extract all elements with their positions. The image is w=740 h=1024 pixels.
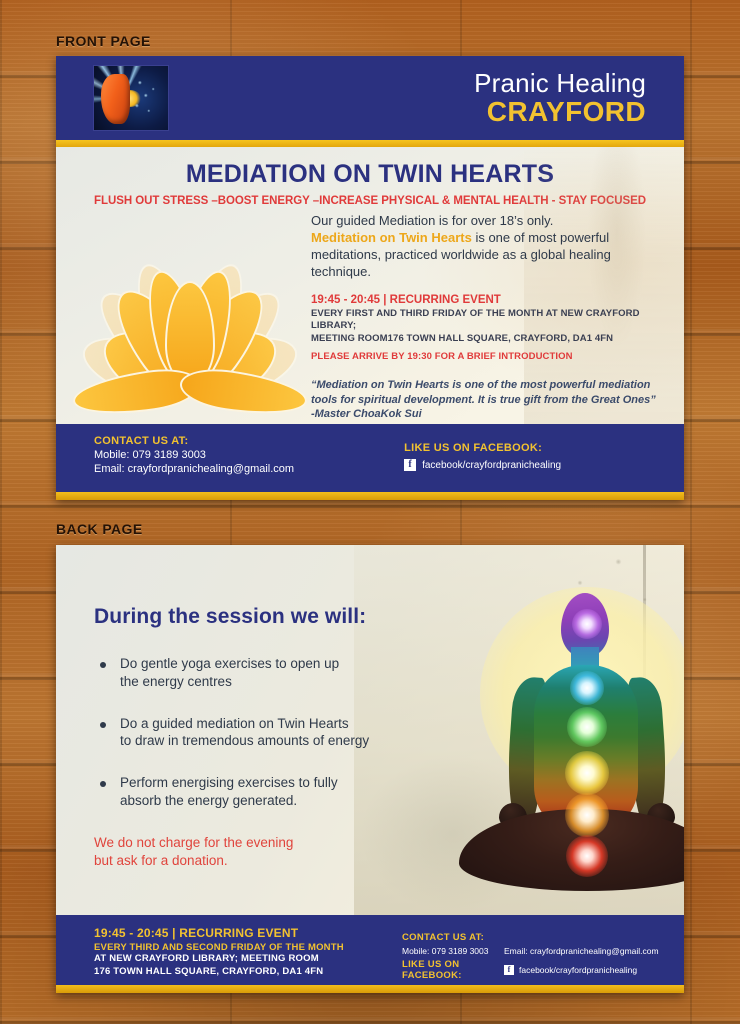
front-facebook-handle: facebook/crayfordpranichealing: [422, 460, 561, 471]
front-bottom-gold-bar: [56, 492, 684, 500]
session-bullet-list: Do gentle yoga exercises to open up the …: [100, 655, 430, 810]
back-event-time: 19:45 - 20:45 | RECURRING EVENT: [94, 926, 394, 940]
intro-line-4: technique.: [311, 264, 371, 279]
meditating-chakra-figure-icon: [451, 585, 684, 903]
back-contact-email[interactable]: Email: crayfordpranichealing@gmail.com: [504, 946, 659, 956]
front-arrive-notice: PLEASE ARRIVE BY 19:30 FOR A BRIEF INTRO…: [311, 351, 670, 362]
intro-line-3: meditations, practiced worldwide as a gl…: [311, 247, 611, 262]
brand-block: Pranic Healing CRAYFORD: [474, 70, 646, 126]
front-contact-mobile[interactable]: Mobile: 079 3189 3003: [94, 449, 294, 461]
back-contact-block: CONTACT US AT: Mobile: 079 3189 3003 Ema…: [402, 926, 659, 985]
brand-name: Pranic Healing: [474, 70, 646, 97]
chakra-solar-plexus-icon: [565, 751, 609, 795]
back-contact-heading: CONTACT US AT:: [402, 932, 659, 943]
lotus-flower-icon: [70, 229, 310, 399]
bullet-dot-icon: [100, 722, 106, 728]
back-facebook-heading: LIKE US ON FACEBOOK:: [402, 959, 504, 981]
intro-line-2-rest: is one of most powerful: [472, 230, 609, 245]
list-item: Do a guided mediation on Twin Hearts to …: [100, 715, 430, 751]
front-event-location: EVERY FIRST AND THIRD FRIDAY OF THE MONT…: [311, 308, 670, 346]
front-facebook-block: LIKE US ON FACEBOOK: f facebook/crayford…: [404, 435, 561, 492]
back-event-venue-line-2: 176 TOWN HALL SQUARE, CRAYFORD, DA1 4FN: [94, 966, 394, 979]
facebook-icon: f: [404, 459, 416, 471]
front-footer: CONTACT US AT: Mobile: 079 3189 3003 Ema…: [56, 424, 684, 492]
chakra-crown-icon: [572, 609, 602, 639]
front-header-bar: Pranic Healing CRAYFORD: [56, 56, 684, 140]
back-bottom-gold-bar: [56, 985, 684, 993]
front-contact-email[interactable]: Email: crayfordpranichealing@gmail.com: [94, 463, 294, 475]
intro-highlight: Meditation on Twin Hearts: [311, 230, 472, 245]
front-contact-block: CONTACT US AT: Mobile: 079 3189 3003 Ema…: [94, 435, 294, 492]
front-intro-paragraph: Our guided Mediation is for over 18’s on…: [311, 213, 670, 281]
bullet-dot-icon: [100, 781, 106, 787]
chakra-sacral-icon: [565, 793, 609, 837]
chakra-root-icon: [566, 835, 608, 877]
back-body: During the session we will: Do gentle yo…: [56, 545, 684, 915]
list-item: Do gentle yoga exercises to open up the …: [100, 655, 430, 691]
front-facebook-heading: LIKE US ON FACEBOOK:: [404, 442, 561, 454]
back-page-flyer: During the session we will: Do gentle yo…: [56, 545, 684, 993]
back-event-venue-line-1: AT NEW CRAYFORD LIBRARY; MEETING ROOM: [94, 953, 394, 966]
back-page-label: BACK PAGE: [56, 521, 143, 537]
chakra-throat-icon: [570, 671, 604, 705]
quote-author: -Master ChoaKok Sui: [311, 408, 422, 420]
front-subtitle: FLUSH OUT STRESS –BOOST ENERGY –INCREASE…: [56, 195, 684, 207]
list-item: Perform energising exercises to fully ab…: [100, 774, 430, 810]
back-facebook-link[interactable]: f facebook/crayfordpranichealing: [504, 959, 637, 981]
back-contact-mobile[interactable]: Mobile: 079 3189 3003: [402, 946, 504, 956]
front-page-flyer: Pranic Healing CRAYFORD MEDIATION ON TWI…: [56, 56, 684, 500]
back-event-frequency: EVERY THIRD AND SECOND FRIDAY OF THE MON…: [94, 942, 394, 953]
bullet-dot-icon: [100, 662, 106, 668]
brand-location: CRAYFORD: [474, 97, 646, 126]
facebook-icon: f: [504, 965, 514, 975]
pranic-healing-logo-icon: [93, 65, 169, 131]
event-where-line-2: MEETING ROOM176 TOWN HALL SQUARE, CRAYFO…: [311, 333, 613, 344]
chakra-heart-icon: [567, 707, 607, 747]
bullet-text: Do gentle yoga exercises to open up the …: [120, 655, 339, 691]
logo-sparkles-icon: [94, 66, 168, 130]
quote-line-1: “Mediation on Twin Hearts is one of the …: [311, 379, 650, 391]
back-facebook-handle: facebook/crayfordpranichealing: [519, 965, 637, 975]
front-gold-divider: [56, 140, 684, 147]
front-facebook-link[interactable]: f facebook/crayfordpranichealing: [404, 459, 561, 471]
front-page-label: FRONT PAGE: [56, 33, 151, 49]
front-quote: “Mediation on Twin Hearts is one of the …: [311, 378, 670, 422]
lotus-column: [56, 213, 311, 422]
quote-line-2: tools for spiritual development. It is t…: [311, 394, 656, 406]
front-contact-heading: CONTACT US AT:: [94, 435, 294, 447]
back-event-block: 19:45 - 20:45 | RECURRING EVENT EVERY TH…: [94, 926, 394, 985]
back-footer: 19:45 - 20:45 | RECURRING EVENT EVERY TH…: [56, 915, 684, 985]
bullet-text: Perform energising exercises to fully ab…: [120, 774, 338, 810]
event-where-line-1: EVERY FIRST AND THIRD FRIDAY OF THE MONT…: [311, 308, 640, 332]
front-text-column: Our guided Mediation is for over 18’s on…: [311, 213, 684, 422]
bullet-text: Do a guided mediation on Twin Hearts to …: [120, 715, 369, 751]
front-event-time: 19:45 - 20:45 | RECURRING EVENT: [311, 294, 670, 306]
front-title: MEDIATION ON TWIN HEARTS: [56, 147, 684, 189]
front-body: MEDIATION ON TWIN HEARTS FLUSH OUT STRES…: [56, 147, 684, 424]
intro-line-1: Our guided Mediation is for over 18’s on…: [311, 213, 553, 228]
